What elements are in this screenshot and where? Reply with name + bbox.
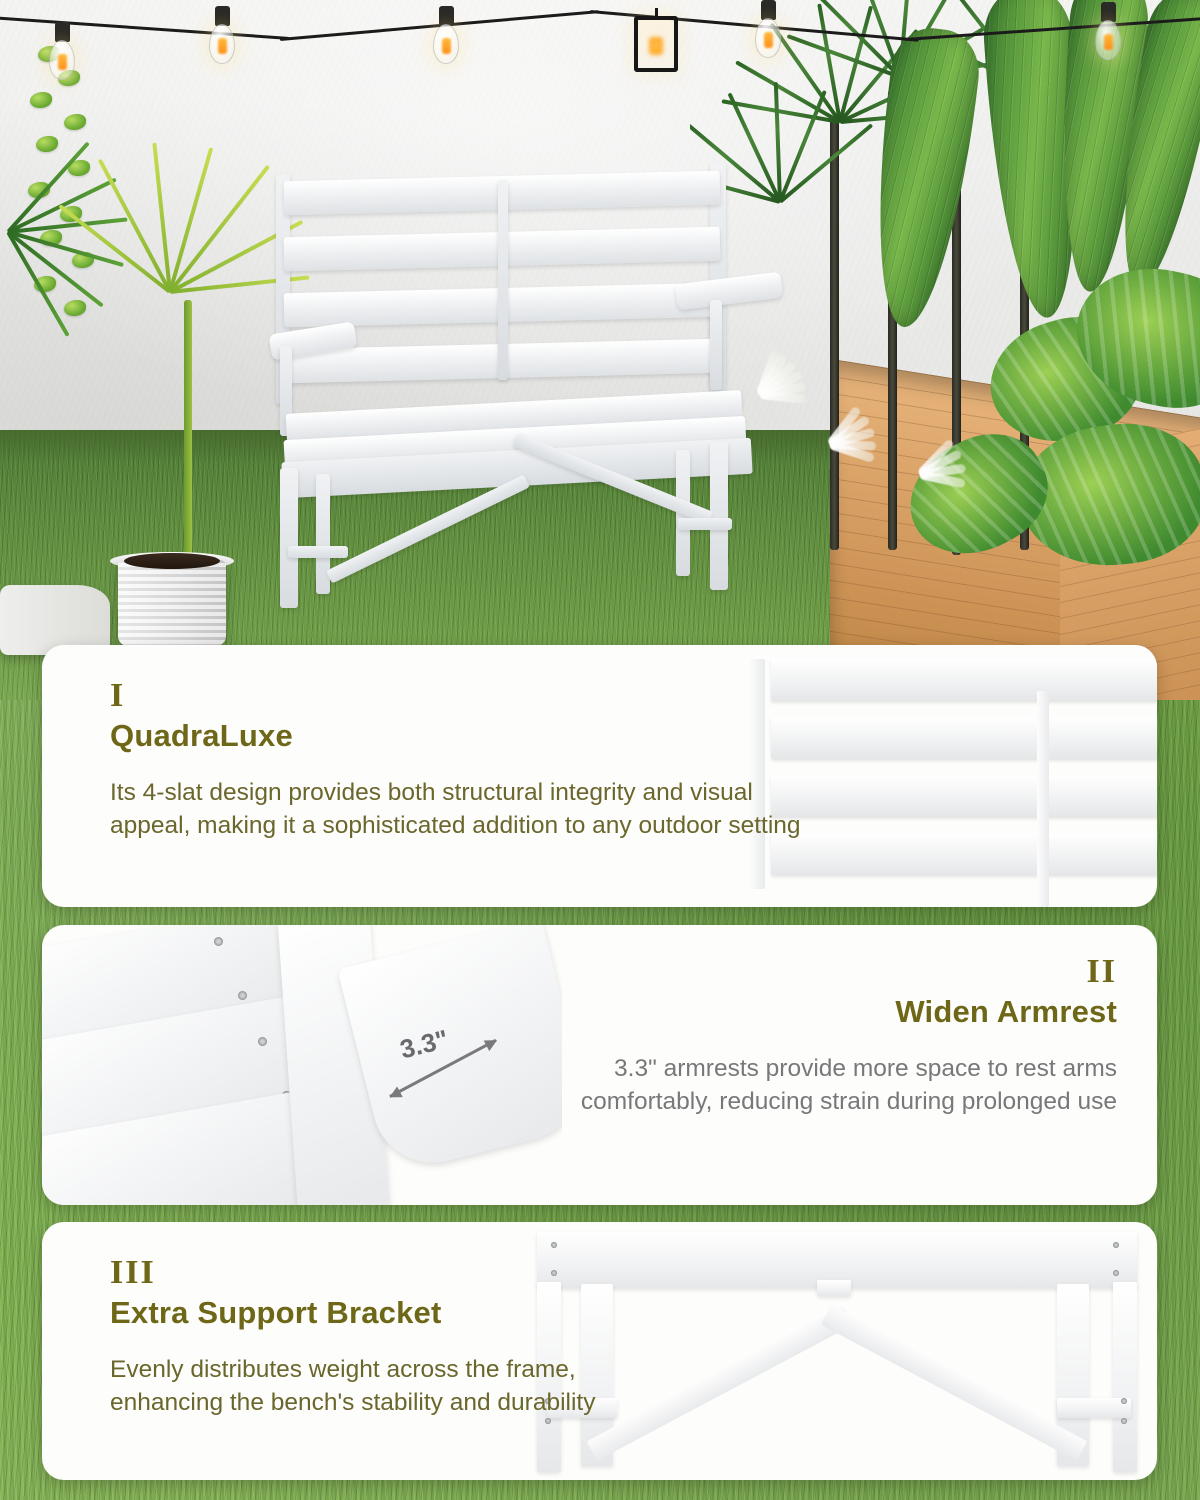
feature-2-body: 3.3" armrests provide more space to rest… (497, 1053, 1117, 1118)
hanging-lantern (634, 16, 678, 72)
bench-leg (710, 442, 728, 590)
feature-2-title: Widen Armrest (497, 995, 1117, 1029)
support-bracket (821, 1305, 1087, 1461)
feature-1-numeral: I (110, 679, 810, 713)
white-planter-pot (118, 560, 226, 646)
feature-card-2: 3.3" II Widen Armrest 3.3" armrests prov… (42, 925, 1157, 1205)
feature-1-body: Its 4-slat design provides both structur… (110, 777, 810, 842)
backrest-slat (771, 775, 1157, 817)
backrest-slat (771, 659, 1157, 701)
bench-leg (1113, 1282, 1137, 1472)
backrest-slat (771, 717, 1157, 759)
edison-bulb (768, 0, 770, 58)
feature-1-title: QuadraLuxe (110, 719, 810, 753)
bench-stretcher (288, 546, 348, 558)
armrest-right (675, 272, 783, 311)
feature-card-3: III Extra Support Bracket Evenly distrib… (42, 1222, 1157, 1480)
bench-leg (280, 468, 298, 608)
edison-bulb (62, 22, 64, 80)
hanging-vine (10, 40, 130, 340)
garden-bench (258, 150, 828, 610)
feature-3-title: Extra Support Bracket (110, 1296, 630, 1330)
edison-bulb (446, 6, 448, 64)
feature-card-1: I QuadraLuxe Its 4-slat design provides … (42, 645, 1157, 907)
bench-stretcher (1057, 1398, 1131, 1418)
bench-stretcher (678, 518, 732, 530)
backrest-slat (771, 833, 1157, 875)
feature-3-body: Evenly distributes weight across the fra… (110, 1354, 630, 1419)
edison-bulb (1108, 2, 1110, 60)
feature-3-numeral: III (110, 1256, 630, 1290)
feature-2-image: 3.3" (42, 925, 562, 1205)
edison-bulb (222, 6, 224, 64)
feature-1-text: I QuadraLuxe Its 4-slat design provides … (110, 679, 810, 842)
hero-product-photo (0, 0, 1200, 700)
feature-2-text: II Widen Armrest 3.3" armrests provide m… (497, 955, 1117, 1118)
feature-3-text: III Extra Support Bracket Evenly distrib… (110, 1256, 630, 1419)
feature-2-numeral: II (497, 955, 1117, 989)
